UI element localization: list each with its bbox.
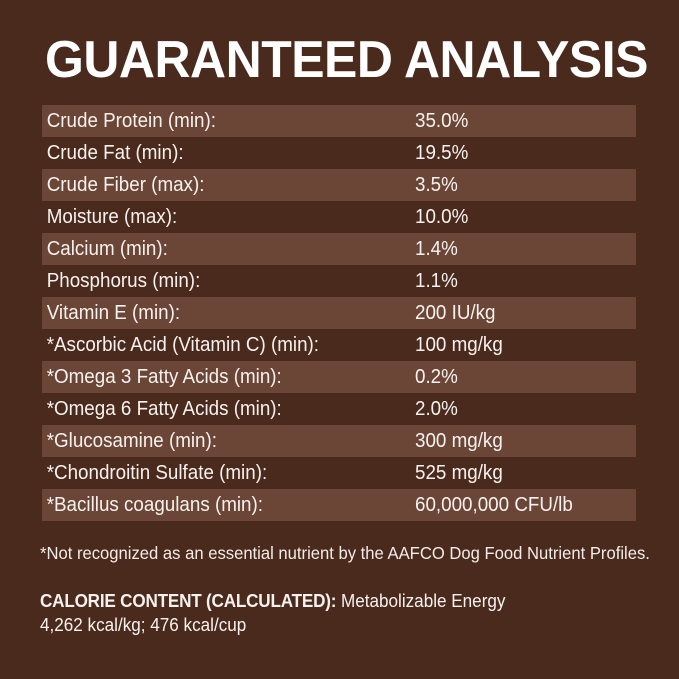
nutrient-value: 100 mg/kg [415, 334, 623, 356]
table-row: *Omega 3 Fatty Acids (min): 0.2% [42, 361, 636, 393]
table-row: Crude Fiber (max): 3.5% [42, 169, 636, 201]
nutrient-name: Calcium (min): [42, 238, 393, 260]
aafco-footnote: *Not recognized as an essential nutrient… [40, 543, 629, 563]
nutrient-value: 2.0% [415, 398, 623, 420]
nutrient-name: *Ascorbic Acid (Vitamin C) (min): [42, 334, 393, 356]
nutrient-name: Phosphorus (min): [42, 270, 393, 292]
nutrient-value: 525 mg/kg [415, 462, 623, 484]
table-row: *Chondroitin Sulfate (min): 525 mg/kg [42, 457, 636, 489]
nutrient-value: 3.5% [415, 174, 623, 196]
nutrient-value: 35.0% [415, 110, 623, 132]
nutrient-name: *Omega 6 Fatty Acids (min): [42, 398, 393, 420]
table-row: Vitamin E (min): 200 IU/kg [42, 297, 636, 329]
table-row: Phosphorus (min): 1.1% [42, 265, 636, 297]
table-row: *Bacillus coagulans (min): 60,000,000 CF… [42, 489, 636, 521]
calorie-content-line: CALORIE CONTENT (CALCULATED): Metaboliza… [40, 589, 629, 613]
nutrient-name: *Bacillus coagulans (min): [42, 494, 393, 516]
table-row: *Omega 6 Fatty Acids (min): 2.0% [42, 393, 636, 425]
table-row: Crude Protein (min): 35.0% [42, 105, 636, 137]
nutrient-name: Vitamin E (min): [42, 302, 393, 324]
nutrient-name: *Chondroitin Sulfate (min): [42, 462, 393, 484]
nutrient-name: Crude Fat (min): [42, 142, 393, 164]
table-row: Crude Fat (min): 19.5% [42, 137, 636, 169]
nutrient-value: 300 mg/kg [415, 430, 623, 452]
nutrient-name: Moisture (max): [42, 206, 393, 228]
nutrient-value: 19.5% [415, 142, 623, 164]
calorie-values: 4,262 kcal/kg; 476 kcal/cup [40, 613, 629, 637]
table-row: *Glucosamine (min): 300 mg/kg [42, 425, 636, 457]
calorie-energy-type: Metabolizable Energy [341, 591, 505, 611]
calorie-content-section: CALORIE CONTENT (CALCULATED): Metaboliza… [40, 589, 629, 637]
nutrient-value: 10.0% [415, 206, 623, 228]
table-row: Calcium (min): 1.4% [42, 233, 636, 265]
table-row: *Ascorbic Acid (Vitamin C) (min): 100 mg… [42, 329, 636, 361]
nutrient-value: 1.1% [415, 270, 623, 292]
nutrient-value: 200 IU/kg [415, 302, 623, 324]
page-title: GUARANTEED ANALYSIS [45, 32, 621, 88]
nutrient-name: *Omega 3 Fatty Acids (min): [42, 366, 393, 388]
nutrient-name: Crude Fiber (max): [42, 174, 393, 196]
table-row: Moisture (max): 10.0% [42, 201, 636, 233]
calorie-content-heading: CALORIE CONTENT (CALCULATED): [40, 591, 336, 611]
nutrient-name: Crude Protein (min): [42, 110, 393, 132]
nutrient-value: 1.4% [415, 238, 623, 260]
nutrient-table: Crude Protein (min): 35.0% Crude Fat (mi… [42, 105, 636, 521]
nutrient-value: 60,000,000 CFU/lb [415, 494, 623, 516]
guaranteed-analysis-label: GUARANTEED ANALYSIS Crude Protein (min):… [0, 0, 679, 679]
nutrient-value: 0.2% [415, 366, 623, 388]
nutrient-name: *Glucosamine (min): [42, 430, 393, 452]
